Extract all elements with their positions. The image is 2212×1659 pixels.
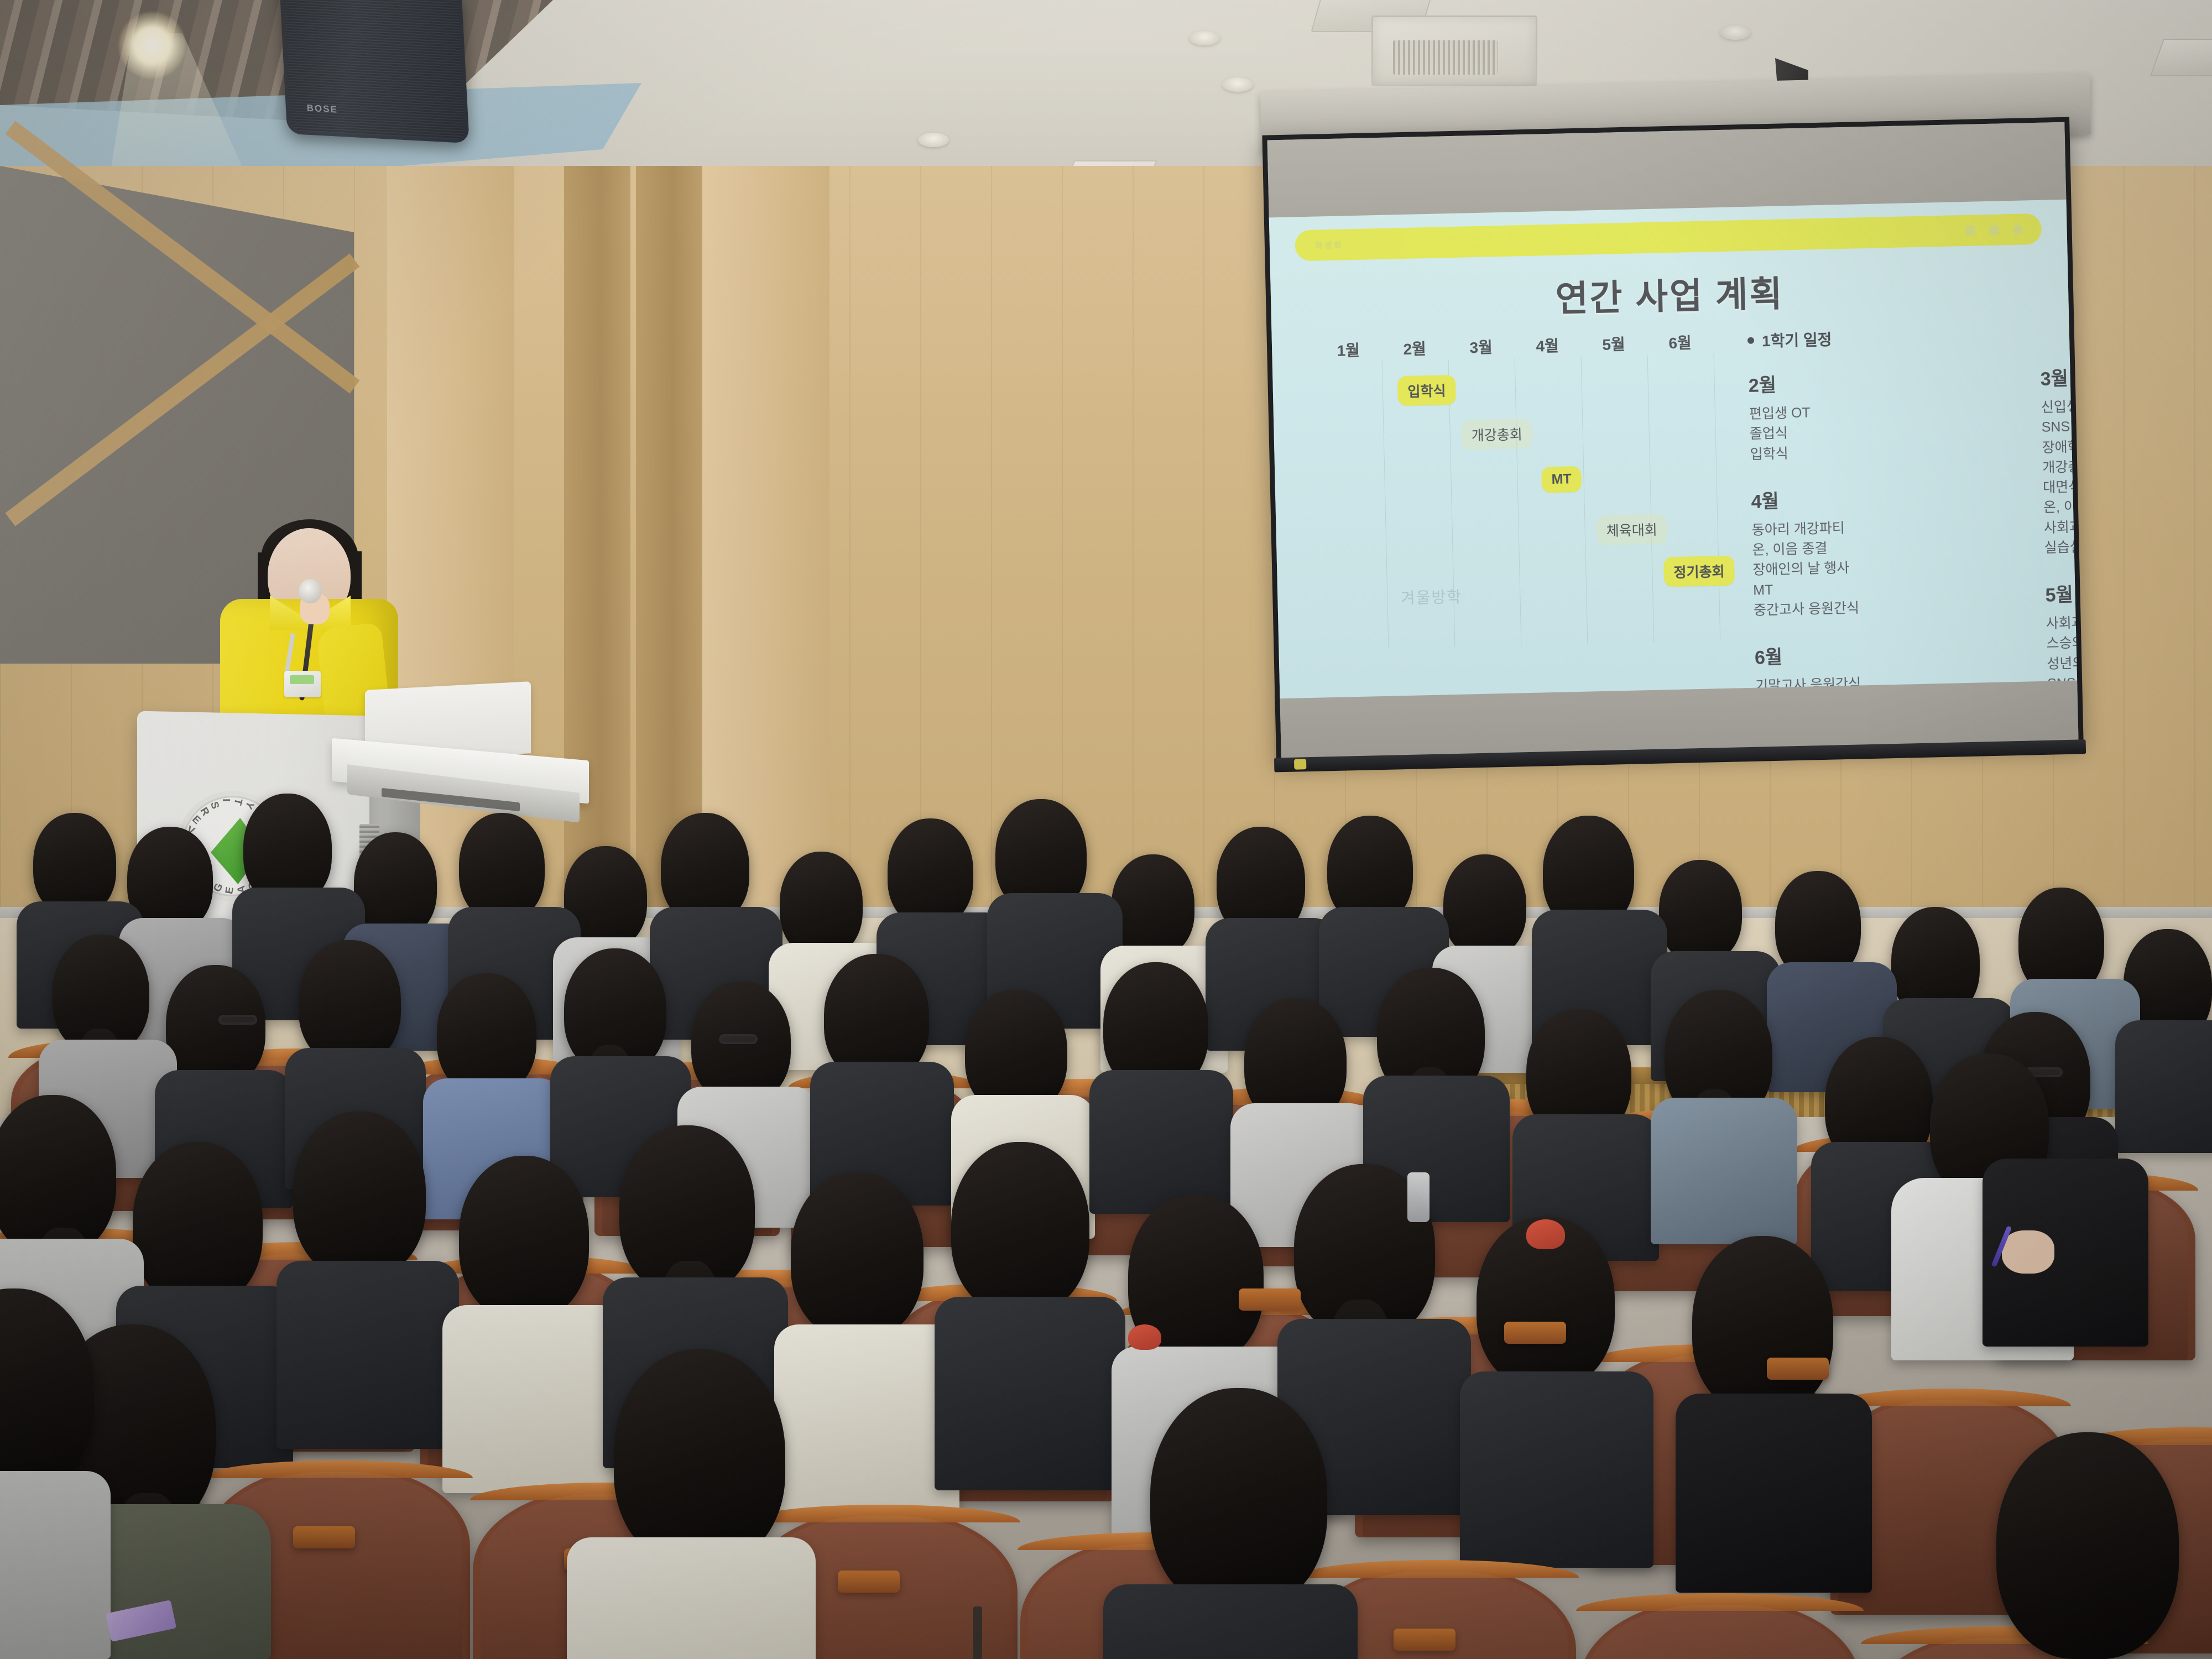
schedule-heading-text: 1학기 일정 xyxy=(1762,327,1832,351)
schedule-month-title: 3월 xyxy=(2040,359,2077,391)
downlight-icon xyxy=(1222,77,1253,92)
audience-head-foreground xyxy=(614,1349,785,1565)
audience-head xyxy=(166,965,265,1087)
audience-head xyxy=(293,1112,426,1277)
audience-torso xyxy=(442,1305,625,1493)
menu-icon xyxy=(1965,226,1975,235)
red-object-on-seat xyxy=(1526,1219,1565,1249)
microphone-icon xyxy=(299,579,322,603)
schedule-item-list: 신입생 환영주간 SNS 이벤트 장애학생/편자전 간담회 개강총회 대면식 온… xyxy=(2041,393,2077,558)
schedule-month-title: 4월 xyxy=(1751,481,1973,513)
schedule-item-list: 편입생 OT 졸업식 입학식 xyxy=(1749,399,1971,465)
timeline-month-label: 5월 xyxy=(1602,332,1625,355)
audience-torso xyxy=(774,1324,959,1515)
red-object-on-seat xyxy=(1128,1324,1161,1350)
timeline-event-chip: 체육대회 xyxy=(1596,514,1667,545)
schedule-column: 3월 신입생 환영주간 SNS 이벤트 장애학생/편자전 간담회 개강총회 대면… xyxy=(2040,359,2077,698)
timeline-vacation-label: 겨울방학 xyxy=(1400,585,1462,609)
audience-torso xyxy=(935,1297,1125,1490)
schedule-column: 2월 편입생 OT 졸업식 입학식 4월 xyxy=(1748,366,1978,698)
timeline-month-label: 1월 xyxy=(1337,338,1360,361)
timeline-event-chip: MT xyxy=(1541,466,1582,493)
audience-head xyxy=(780,852,863,957)
audience-head-foreground xyxy=(1996,1432,2179,1659)
timeline-event-chip: 개강총회 xyxy=(1461,419,1532,450)
timeline-event-chip: 정기총회 xyxy=(1663,556,1735,587)
slide-title: 연간 사업 계획 xyxy=(1270,259,2069,328)
eyeglasses-icon xyxy=(719,1034,758,1044)
schedule-item: 신입생 환영주간 xyxy=(2041,393,2077,418)
schedule-item: 중간고사 응원간식 xyxy=(1754,595,1975,620)
screen-pull-knob xyxy=(1294,759,1306,769)
audience-head xyxy=(1112,854,1194,957)
downlight-icon xyxy=(918,133,949,147)
name-badge xyxy=(284,671,321,697)
slide-topbar-label: 학생회 xyxy=(1315,239,1343,251)
audience-head-foreground xyxy=(1150,1388,1327,1609)
audience-head xyxy=(1659,860,1742,962)
audience-torso xyxy=(1676,1394,1872,1593)
ceiling-ac-vent xyxy=(1371,15,1537,86)
timeline: 1월 2월 3월 4월 5월 6월 입학식 개강총회 xyxy=(1326,330,1743,682)
schedule-month-block: 2월 편입생 OT 졸업식 입학식 xyxy=(1748,366,1971,465)
audience-head xyxy=(951,1142,1089,1313)
audience-head xyxy=(888,818,973,926)
schedule-month-block: 3월 신입생 환영주간 SNS 이벤트 장애학생/편자전 간담회 개강총회 대면… xyxy=(2040,359,2077,558)
schedule-month-block: 5월 사회과학대학 체육대회 스승의 날 행사 성년의 날 행사 SNS 이벤트 xyxy=(2045,575,2077,694)
audience-torso xyxy=(1460,1371,1653,1568)
audience-head xyxy=(791,1172,924,1338)
schedule-month-title: 6월 xyxy=(1754,638,1976,670)
auditorium-seat[interactable] xyxy=(1579,1598,1861,1659)
downlight-icon xyxy=(1189,31,1220,45)
audience-torso xyxy=(567,1537,816,1659)
timeline-month-label: 4월 xyxy=(1536,334,1559,357)
seat-armrest xyxy=(1239,1288,1301,1311)
audience-torso xyxy=(1651,1098,1797,1244)
bullet-icon xyxy=(1747,337,1754,344)
schedule-month-block: 4월 동아리 개강파티 온, 이음 종결 장애인의 날 행사 MT 중간고사 응… xyxy=(1751,481,1975,620)
schedule-month-title: 2월 xyxy=(1748,366,1970,398)
audience-head xyxy=(1443,854,1526,957)
seat-leg xyxy=(973,1606,982,1659)
timeline-month-label: 3월 xyxy=(1469,335,1493,358)
schedule-heading: 1학기 일정 xyxy=(1747,317,2078,352)
audience-head xyxy=(459,1156,589,1319)
audience-head xyxy=(437,973,536,1095)
eyeglasses-icon xyxy=(218,1015,257,1025)
bose-ceiling-speaker: BOSE BOSE xyxy=(279,0,469,143)
seat-armrest xyxy=(1504,1322,1566,1344)
downlight-icon xyxy=(1720,25,1751,40)
audience-head xyxy=(33,813,116,915)
speaker-brand-label: BOSE xyxy=(306,103,338,116)
audience-torso xyxy=(1089,1070,1233,1214)
slide-topbar-icons xyxy=(1965,225,2022,235)
audience-torso xyxy=(276,1261,459,1449)
search-icon xyxy=(2013,225,2022,234)
slide-body: 1월 2월 3월 4월 5월 6월 입학식 개강총회 xyxy=(1272,322,2077,695)
schedule-month-title: 5월 xyxy=(2045,575,2077,607)
slide-topbar: 학생회 xyxy=(1295,213,2042,262)
audience-head xyxy=(459,813,545,921)
timeline-gridlines xyxy=(1327,353,1743,650)
schedule-item-list: 동아리 개강파티 온, 이음 종결 장애인의 날 행사 MT 중간고사 응원간식 xyxy=(1751,515,1975,620)
audience-head xyxy=(133,1142,263,1305)
audience-hand xyxy=(2002,1230,2054,1274)
presentation-slide: 학생회 연간 사업 계획 1월 2월 3월 xyxy=(1269,200,2077,698)
seat-armrest xyxy=(1394,1629,1455,1651)
projector-screen: 학생회 연간 사업 계획 1월 2월 3월 xyxy=(1262,117,2083,760)
audience-torso xyxy=(1103,1584,1358,1659)
timeline-month-label: 6월 xyxy=(1668,331,1692,353)
schedule-item: 사회과학대학 체육대회 xyxy=(2046,609,2077,634)
schedule-panel: 1학기 일정 2월 편입생 OT 졸업식 입학식 xyxy=(1747,317,2078,698)
speaker-grille xyxy=(283,0,466,140)
audience-head xyxy=(354,832,437,937)
seat-armrest xyxy=(1767,1358,1829,1380)
seat-armrest xyxy=(293,1526,355,1548)
audience-head xyxy=(299,940,401,1065)
audience-torso xyxy=(0,1471,111,1659)
screen-fabric: 학생회 연간 사업 계획 1월 2월 3월 xyxy=(1267,122,2079,760)
timeline-event-chip: 입학식 xyxy=(1397,375,1456,406)
audience-torso xyxy=(2115,1020,2212,1153)
schedule-columns: 2월 편입생 OT 졸업식 입학식 4월 xyxy=(1748,358,2077,698)
timeline-month-label: 2월 xyxy=(1403,337,1426,359)
water-bottle xyxy=(1407,1172,1430,1222)
seat-armrest xyxy=(838,1571,900,1593)
audience-head xyxy=(1692,1236,1833,1413)
auditorium-photo: BOSE BOSE 학생회 연간 사업 계획 xyxy=(0,0,2212,1659)
home-icon xyxy=(1989,225,1999,234)
